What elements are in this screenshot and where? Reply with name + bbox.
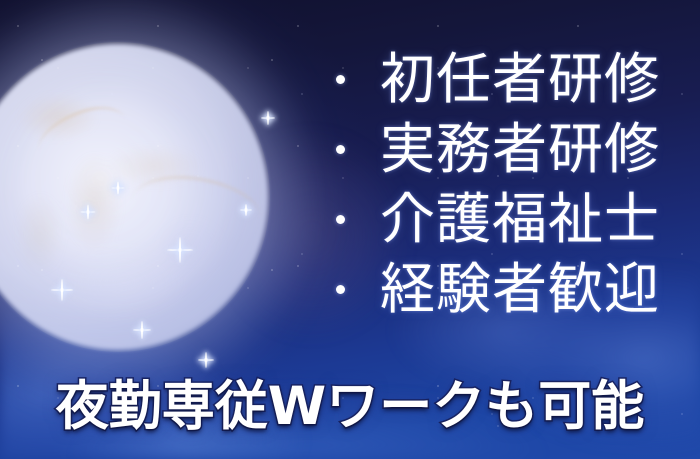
bullet-dot-icon — [336, 285, 345, 294]
bullet-label: 実務者研修 — [380, 122, 660, 177]
list-item: 経験者歓迎 — [336, 254, 696, 324]
bullet-label: 介護福祉士 — [380, 192, 660, 247]
bullet-label: 初任者研修 — [380, 52, 660, 107]
headline-text: 夜勤専従Wワークも可能 — [56, 380, 644, 433]
list-item: 介護福祉士 — [336, 184, 696, 254]
bullet-dot-icon — [336, 215, 345, 224]
headline-band: 夜勤専従Wワークも可能 — [0, 380, 700, 433]
list-item: 初任者研修 — [336, 44, 696, 114]
banner-content: 初任者研修 実務者研修 介護福祉士 経験者歓迎 夜勤専従Wワークも可能 — [0, 0, 700, 459]
bullet-dot-icon — [336, 145, 345, 154]
list-item: 実務者研修 — [336, 114, 696, 184]
qualification-bullet-list: 初任者研修 実務者研修 介護福祉士 経験者歓迎 — [336, 44, 696, 324]
bullet-label: 経験者歓迎 — [380, 262, 660, 317]
bullet-dot-icon — [336, 75, 345, 84]
job-ad-banner: 初任者研修 実務者研修 介護福祉士 経験者歓迎 夜勤専従Wワークも可能 — [0, 0, 700, 459]
